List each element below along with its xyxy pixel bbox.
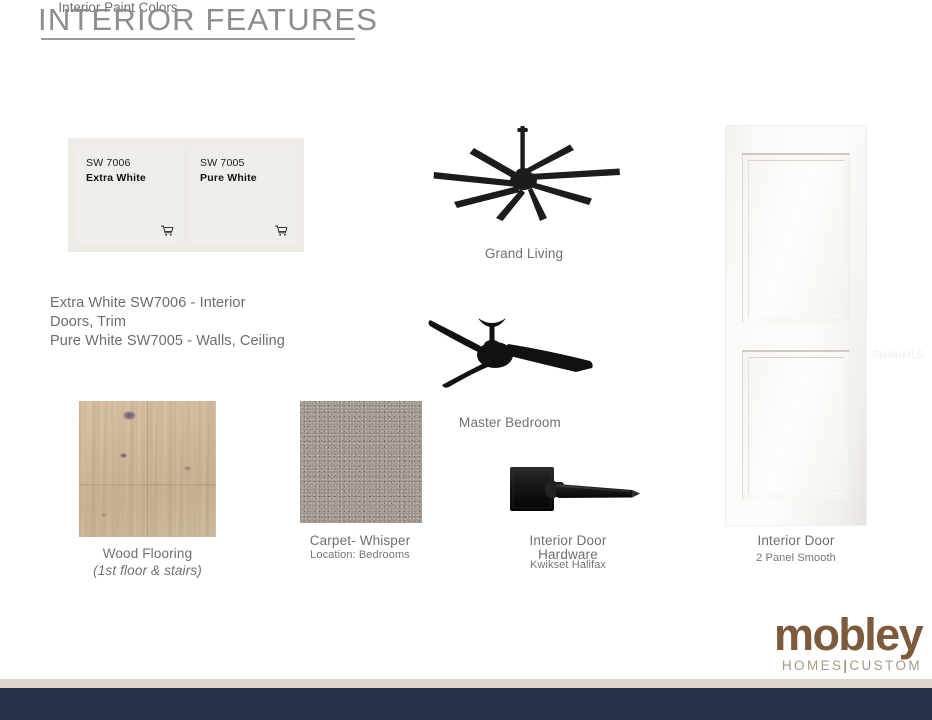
logo-wordmark: mobley bbox=[738, 612, 922, 657]
title-underline bbox=[41, 38, 355, 40]
cart-icon[interactable] bbox=[275, 225, 288, 237]
logo-tagline: HOMES|CUSTOM bbox=[738, 658, 922, 673]
footer-rule bbox=[0, 679, 932, 688]
carpet-caption: Carpet- Whisper bbox=[298, 533, 422, 548]
hardware-caption-line-3: Kwikset Halifax bbox=[500, 559, 636, 571]
paint-swatch-panel: SW 7006 Extra White SW 7005 Pure White bbox=[68, 138, 304, 252]
watermark: StellarMLS bbox=[872, 350, 924, 361]
wood-flooring-sample bbox=[79, 401, 216, 537]
paint-swatch-code: SW 7006 bbox=[86, 156, 172, 171]
paint-swatch-name: Pure White bbox=[200, 171, 286, 187]
ceiling-fan-icon-master-bedroom bbox=[416, 310, 612, 392]
wood-flooring-subcaption: (1st floor & stairs) bbox=[79, 563, 216, 578]
door-subcaption: 2 Panel Smooth bbox=[716, 552, 876, 564]
logo-tagline-right: CUSTOM bbox=[849, 658, 922, 673]
fan-caption-grand-living: Grand Living bbox=[424, 246, 624, 261]
paint-detail-line-3: Pure White SW7005 - Walls, Ceiling bbox=[50, 332, 350, 351]
interior-door-image bbox=[726, 126, 866, 525]
page-title: INTERIOR FEATURES bbox=[38, 2, 378, 38]
paint-detail-line-2: Doors, Trim bbox=[50, 313, 350, 332]
cart-icon[interactable] bbox=[161, 225, 174, 237]
door-panel-bottom bbox=[742, 350, 850, 500]
footer-bar bbox=[0, 688, 932, 720]
door-lever-icon bbox=[508, 464, 644, 522]
door-caption: Interior Door bbox=[716, 533, 876, 548]
carpet-subcaption: Location: Bedrooms bbox=[292, 549, 428, 561]
ceiling-fan-icon-grand-living bbox=[424, 126, 624, 226]
hardware-caption-line-1: Interior Door bbox=[500, 533, 636, 548]
carpet-sample bbox=[300, 401, 422, 523]
wood-flooring-caption: Wood Flooring bbox=[79, 546, 216, 561]
paint-colors-detail: Extra White SW7006 - Interior Doors, Tri… bbox=[50, 294, 350, 351]
paint-swatch-pure-white[interactable]: SW 7005 Pure White bbox=[189, 146, 297, 244]
mobley-logo: mobley HOMES|CUSTOM bbox=[738, 612, 922, 674]
paint-swatch-code: SW 7005 bbox=[200, 156, 286, 171]
door-panel-top bbox=[742, 153, 850, 323]
paint-swatch-name: Extra White bbox=[86, 171, 172, 187]
design-board: INTERIOR FEATURES SW 7006 Extra White SW… bbox=[0, 0, 932, 720]
fan-caption-master-bedroom: Master Bedroom bbox=[410, 415, 610, 430]
logo-tagline-left: HOMES bbox=[782, 658, 844, 673]
paint-swatch-extra-white[interactable]: SW 7006 Extra White bbox=[75, 146, 183, 244]
paint-detail-line-1: Extra White SW7006 - Interior bbox=[50, 294, 350, 313]
